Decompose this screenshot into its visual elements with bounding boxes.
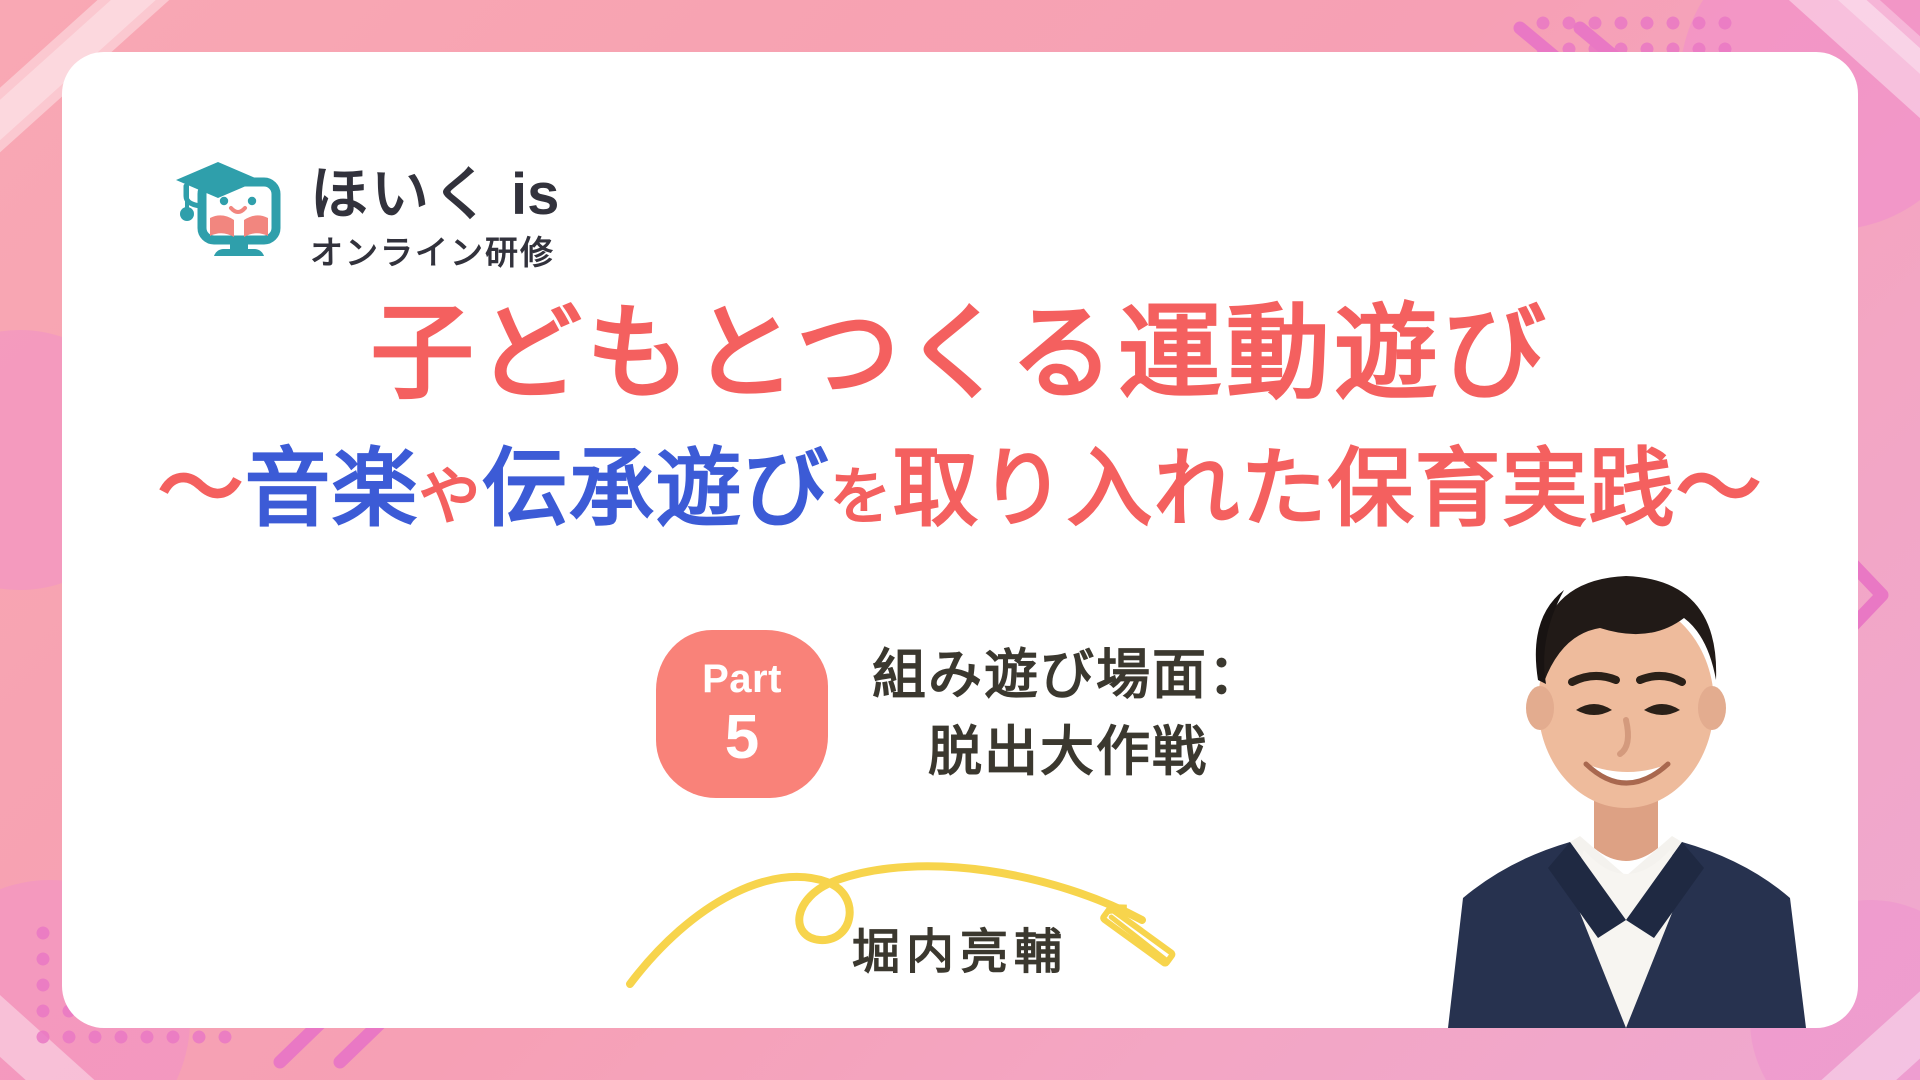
brand-wordmark-latin: is [511, 162, 559, 227]
subtitle-part-3: 伝承遊び [482, 441, 830, 537]
part-badge-number: 5 [725, 707, 759, 769]
content-card: ほいくis オンライン研修 子どもとつくる運動遊び 〜音楽や伝承遊びを取り入れた… [62, 52, 1858, 1028]
subtitle-part-4: を [830, 463, 893, 532]
subtitle-part-0: 〜 [157, 441, 244, 537]
subtitle-part-1: 音楽 [244, 441, 418, 537]
presenter-photo [1388, 468, 1858, 1028]
scene-title-line2: 脱出大作戦 [872, 714, 1264, 791]
part-badge: Part 5 [656, 630, 828, 798]
subtitle-part-2: や [418, 463, 481, 532]
brand-wordmark: ほいくis [310, 166, 559, 224]
part-badge-label: Part [702, 659, 782, 699]
graduation-cap-monitor-book-icon [172, 156, 292, 266]
scene-title-line1: 組み遊び場面： [872, 637, 1264, 714]
brand-wordmark-jp: ほいく [310, 162, 493, 227]
slide-canvas: ほいくis オンライン研修 子どもとつくる運動遊び 〜音楽や伝承遊びを取り入れた… [0, 0, 1920, 1080]
scene-title: 組み遊び場面： 脱出大作戦 [872, 637, 1264, 790]
page-title: 子どもとつくる運動遊び [62, 300, 1858, 409]
brand-logo: ほいくis オンライン研修 [172, 156, 559, 269]
brand-subtitle: オンライン研修 [310, 236, 559, 269]
